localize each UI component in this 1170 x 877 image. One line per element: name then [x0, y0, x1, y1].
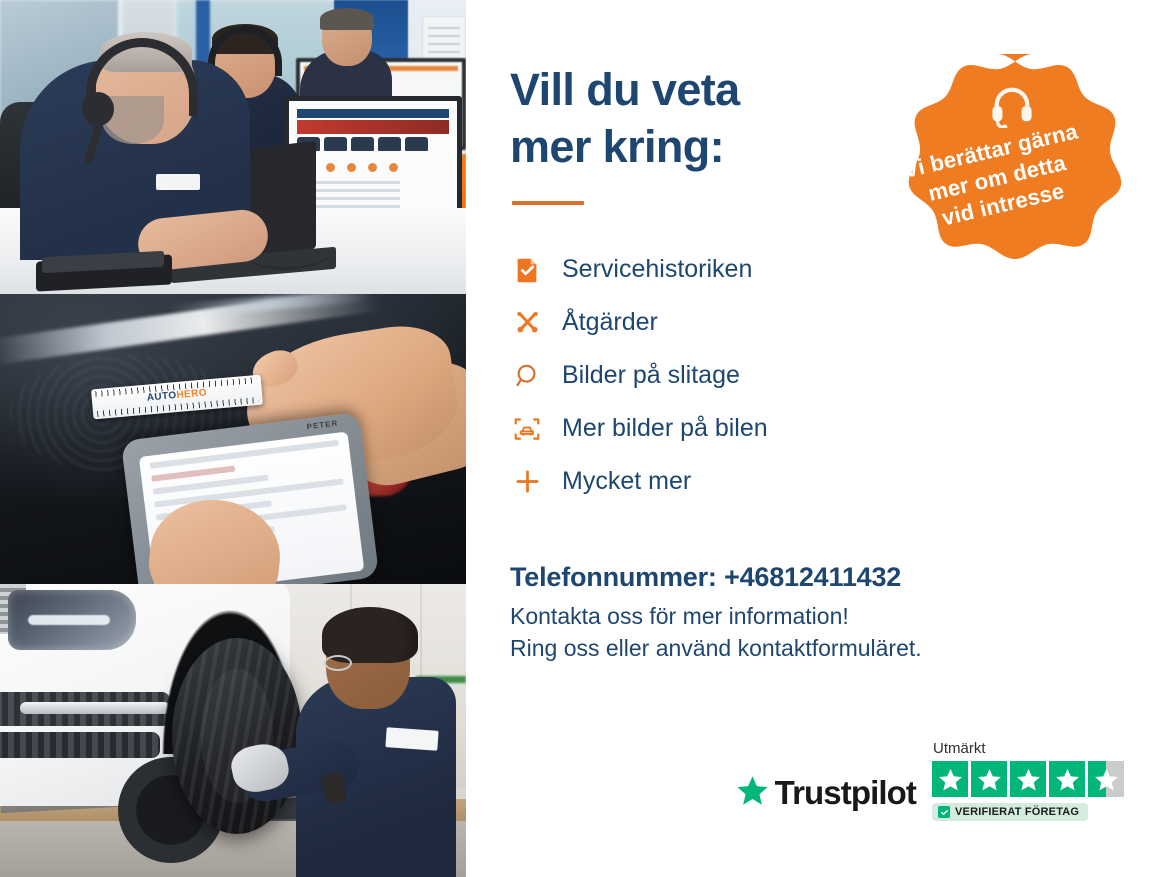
rating-star-filled — [971, 761, 1007, 797]
verified-check-icon — [938, 806, 950, 818]
car-inspection-ruler-photo: AUTOHERO PETER — [0, 294, 466, 584]
flyer-page: AUTOHERO PETER — [0, 0, 1170, 877]
status-badge: VERIFIERAT FÖRETAG — [932, 803, 1088, 821]
rating-star-filled — [932, 761, 968, 797]
trustpilot-rating-label: Utmärkt — [933, 740, 986, 757]
contact-line-1: Kontakta oss för mer information! — [510, 602, 1170, 631]
list-item: Mer bilder på bilen — [510, 402, 1170, 455]
list-item-label: Bilder på slitage — [562, 361, 740, 390]
rating-star-filled — [1010, 761, 1046, 797]
phone-label: Telefonnummer: — [510, 562, 717, 592]
list-item: Mycket mer — [510, 455, 1170, 508]
list-item-label: Mer bilder på bilen — [562, 414, 768, 443]
phone-number[interactable]: +46812411432 — [724, 562, 901, 592]
call-center-agents-photo — [0, 0, 466, 294]
title-underline-rule — [512, 201, 584, 205]
trustpilot-rating-block: Utmärkt — [932, 740, 1124, 821]
callout-badge: Vi berättar gärna mer om detta vid intre… — [872, 48, 1122, 298]
trustpilot-star-icon — [736, 774, 769, 812]
page-title: Vill du veta mer kring: — [510, 62, 890, 175]
rating-star-filled — [1049, 761, 1085, 797]
headline-line-2: mer kring: — [510, 121, 724, 172]
trustpilot-widget[interactable]: Trustpilot Utmärkt — [736, 740, 1124, 821]
mechanic-tire-change-photo — [0, 584, 466, 877]
list-item: Bilder på slitage — [510, 349, 1170, 402]
phone-line: Telefonnummer: +46812411432 — [510, 562, 1170, 593]
photo-column: AUTOHERO PETER — [0, 0, 466, 877]
trustpilot-star-rating — [932, 761, 1124, 797]
rating-star-half — [1088, 761, 1124, 797]
headline-line-1: Vill du veta — [510, 64, 740, 115]
list-item-label: Servicehistoriken — [562, 255, 752, 284]
trustpilot-logo: Trustpilot — [736, 774, 916, 821]
tools-wrench-screwdriver-icon — [510, 306, 544, 340]
plus-icon — [510, 465, 544, 499]
contact-line-2: Ring oss eller använd kontaktformuläret. — [510, 634, 1170, 663]
magnifier-icon — [510, 359, 544, 393]
checklist-document-icon — [510, 253, 544, 287]
contact-block: Telefonnummer: +46812411432 Kontakta oss… — [510, 562, 1170, 663]
car-scan-icon — [510, 412, 544, 446]
trustpilot-logo-text: Trustpilot — [775, 774, 916, 812]
headset-icon — [989, 84, 1035, 128]
content-panel: Vill du veta mer kring: Servicehistorike… — [466, 0, 1170, 877]
verified-label: VERIFIERAT FÖRETAG — [955, 806, 1079, 818]
list-item: Åtgärder — [510, 296, 1170, 349]
list-item-label: Mycket mer — [562, 467, 691, 496]
list-item-label: Åtgärder — [562, 308, 658, 337]
